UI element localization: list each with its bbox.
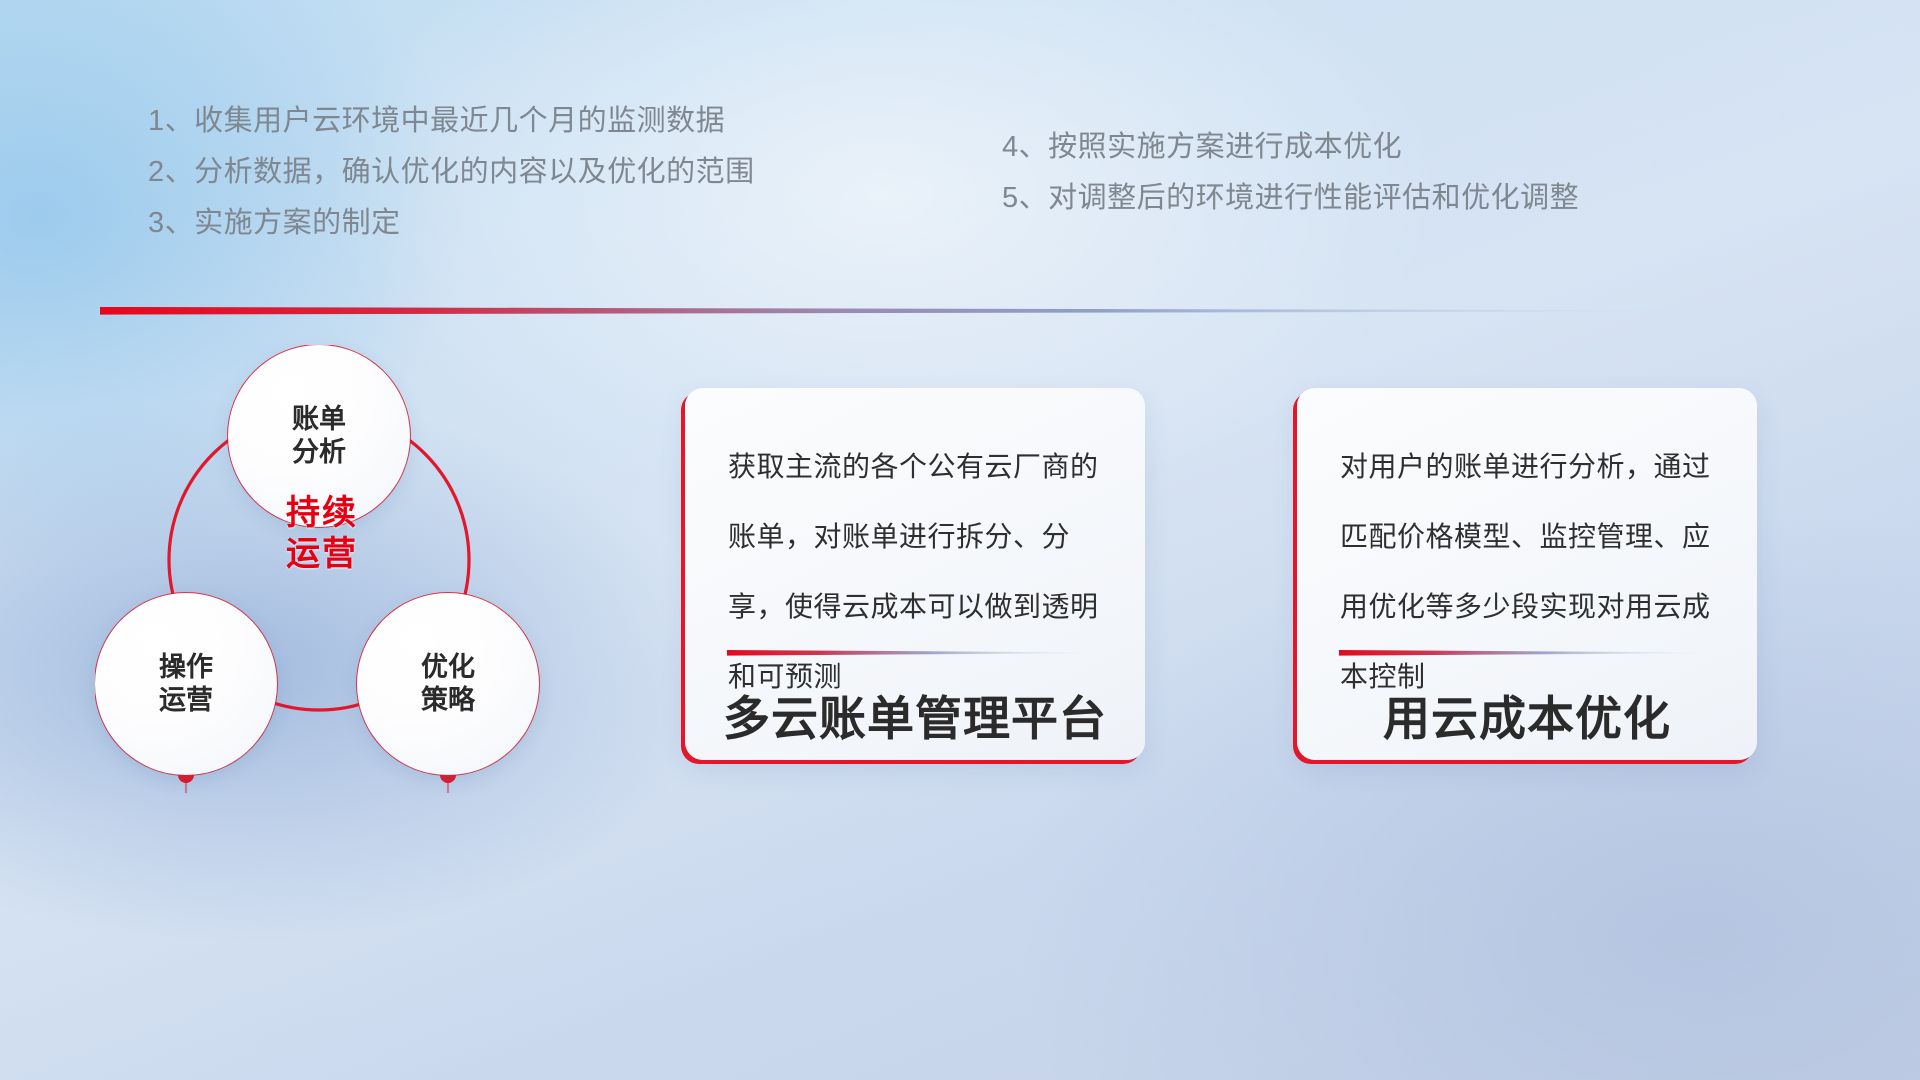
- bullet-item: 2、分析数据，确认优化的内容以及优化的范围: [148, 147, 755, 198]
- bubble-label-line2: 策略: [421, 684, 475, 717]
- bubble-label-line2: 分析: [292, 436, 346, 469]
- section-divider: [100, 303, 1710, 314]
- card-title: 多云账单管理平台: [685, 680, 1145, 749]
- diagram-bubble-optimization-policy[interactable]: 优化 策略: [357, 593, 539, 775]
- bullet-item: 5、对调整后的环境进行性能评估和优化调整: [1002, 173, 1579, 224]
- feature-card-cloud-cost-optimization[interactable]: 对用户的账单进行分析，通过匹配价格模型、监控管理、应用优化等多少段实现对用云成本…: [1297, 388, 1757, 760]
- card-title: 用云成本优化: [1297, 680, 1757, 749]
- feature-card-multi-cloud-bill-platform[interactable]: 获取主流的各个公有云厂商的账单，对账单进行拆分、分享，使得云成本可以做到透明和可…: [685, 388, 1145, 760]
- bubble-label-line1: 操作: [159, 651, 213, 684]
- diagram-center-label: 持续 运营: [247, 493, 397, 576]
- diagram-bubble-operation-ops[interactable]: 操作 运营: [95, 593, 277, 775]
- bubble-label-line2: 运营: [159, 684, 213, 717]
- bullet-list-left: 1、收集用户云环境中最近几个月的监测数据 2、分析数据，确认优化的内容以及优化的…: [148, 96, 755, 249]
- card-accent-rule: [727, 643, 1097, 650]
- bullet-list-right: 4、按照实施方案进行成本优化 5、对调整后的环境进行性能评估和优化调整: [1002, 122, 1579, 224]
- bullet-item: 3、实施方案的制定: [148, 198, 755, 249]
- bullet-item: 1、收集用户云环境中最近几个月的监测数据: [148, 96, 755, 147]
- slide-canvas: 1、收集用户云环境中最近几个月的监测数据 2、分析数据，确认优化的内容以及优化的…: [0, 0, 1920, 1080]
- card-accent-rule: [1339, 643, 1709, 650]
- center-label-line1: 持续: [247, 493, 397, 534]
- bubble-label-line1: 优化: [421, 651, 475, 684]
- card-description: 获取主流的各个公有云厂商的账单，对账单进行拆分、分享，使得云成本可以做到透明和可…: [728, 432, 1107, 712]
- bubble-label-line1: 账单: [292, 403, 346, 436]
- center-label-line2: 运营: [247, 534, 397, 575]
- card-description: 对用户的账单进行分析，通过匹配价格模型、监控管理、应用优化等多少段实现对用云成本…: [1340, 432, 1719, 712]
- bullet-item: 4、按照实施方案进行成本优化: [1002, 122, 1579, 173]
- continuous-operation-diagram: 账单 分析 操作 运营 优化 策略 持续 运营: [95, 345, 655, 945]
